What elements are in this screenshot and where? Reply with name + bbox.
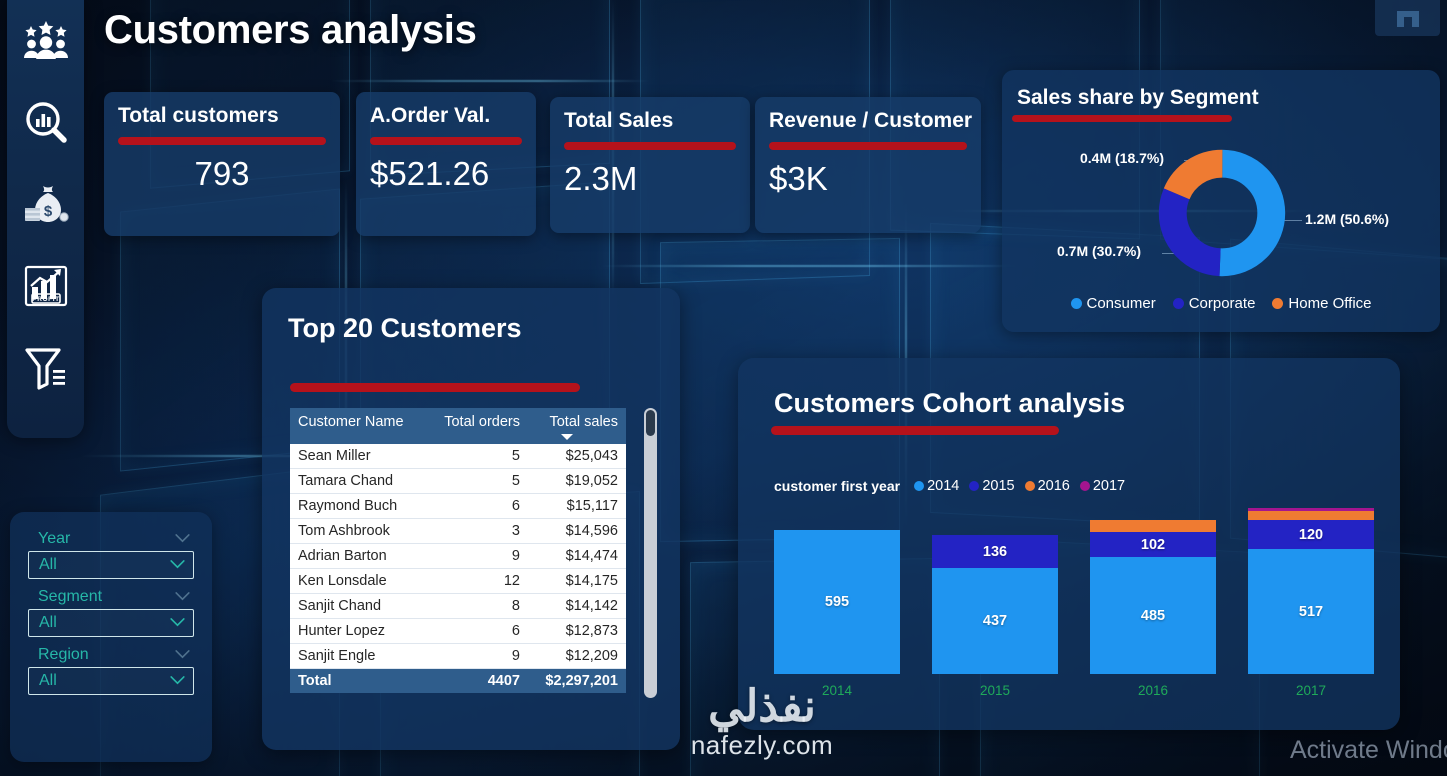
slicer-label: Region [38, 646, 89, 664]
donut-slice-home-office[interactable] [1173, 164, 1272, 263]
legend-label: 2016 [1038, 478, 1070, 494]
table-cell-orders: 9 [436, 544, 528, 569]
kpi-label: Total customers [118, 104, 326, 128]
legend-label: Corporate [1189, 295, 1256, 312]
customers-cohort-panel: Customers Cohort analysis customer first… [738, 358, 1400, 730]
sales-share-by-segment-panel: Sales share by Segment 0.4M (18.7%) 0.7M… [1002, 70, 1440, 332]
bar-segment-2017-2014[interactable]: 517 [1248, 549, 1374, 674]
bar-value-label: 485 [1141, 608, 1165, 624]
table-row[interactable]: Sean Miller5$25,043 [290, 444, 626, 469]
kpi-value: 2.3M [564, 162, 736, 197]
legend-label: 2014 [927, 478, 959, 494]
table-body: Sean Miller5$25,043Tamara Chand5$19,052R… [290, 444, 626, 693]
table-row[interactable]: Ken Lonsdale12$14,175 [290, 569, 626, 594]
legend-item-consumer[interactable]: Consumer [1071, 295, 1156, 312]
panel-underline [290, 383, 580, 392]
table-row[interactable]: Tamara Chand5$19,052 [290, 469, 626, 494]
column-header-customer-name[interactable]: Customer Name [290, 408, 436, 444]
customers-star-icon [23, 20, 69, 60]
axis-tick-label-2017: 2017 [1248, 683, 1374, 698]
table-scrollbar-thumb[interactable] [646, 410, 655, 436]
kpi-value: 793 [118, 157, 326, 192]
slicer-value: All [39, 614, 57, 632]
window-corner-icon [1375, 0, 1440, 36]
kpi-underline [769, 142, 967, 150]
table-cell-sales: $25,043 [528, 444, 626, 469]
kpi-label: Revenue / Customer [769, 109, 967, 133]
slicer-dropdown-segment[interactable]: All [28, 609, 194, 637]
legend-label: 2017 [1093, 478, 1125, 494]
sidebar-item-customers[interactable] [18, 14, 74, 66]
sidebar-item-analysis[interactable] [18, 96, 74, 148]
table-row[interactable]: Sanjit Engle9$12,209 [290, 644, 626, 669]
slicer-segment: SegmentAll [28, 588, 194, 637]
chevron-down-icon [170, 618, 185, 627]
cohort-stacked-bar-chart: 5952014136437201510248520161205172017 [774, 508, 1374, 698]
table-cell-name: Hunter Lopez [290, 619, 436, 644]
customers-table-wrapper: Customer Name Total orders Total sales S… [290, 408, 626, 720]
table-row[interactable]: Raymond Buch6$15,117 [290, 494, 626, 519]
bar-segment-2016-2014[interactable]: 485 [1090, 557, 1216, 674]
table-cell-name: Adrian Barton [290, 544, 436, 569]
slicer-year: YearAll [28, 530, 194, 579]
chevron-down-icon [175, 534, 190, 543]
legend-swatch-icon [1025, 481, 1035, 491]
legend-item-home-office[interactable]: Home Office [1272, 295, 1371, 312]
chevron-down-icon [170, 676, 185, 685]
legend-swatch-icon [969, 481, 979, 491]
slicer-label: Segment [38, 588, 102, 606]
table-cell-sales: $14,474 [528, 544, 626, 569]
slicer-value: All [39, 672, 57, 690]
table-total-label: Total [290, 669, 436, 694]
cohort-bar-2015[interactable]: 136437 [932, 535, 1058, 674]
cohort-bar-2016[interactable]: 102485 [1090, 520, 1216, 674]
page-title: Customers analysis [104, 8, 477, 53]
chart-search-icon [24, 100, 68, 144]
chevron-down-icon [175, 650, 190, 659]
table-total-sales: $2,297,201 [528, 669, 626, 694]
donut-chart[interactable] [1157, 148, 1287, 278]
sort-descending-icon [561, 434, 573, 440]
legend-item-2014[interactable]: 2014 [914, 478, 959, 494]
slicer-header-segment[interactable]: Segment [28, 588, 194, 609]
slicer-dropdown-region[interactable]: All [28, 667, 194, 695]
bar-segment-2015-2014[interactable]: 437 [932, 568, 1058, 674]
chevron-down-icon [170, 560, 185, 569]
bar-value-label: 517 [1299, 604, 1323, 620]
donut-callout-home-office: 0.4M (18.7%) [1080, 150, 1164, 166]
legend-item-2015[interactable]: 2015 [969, 478, 1014, 494]
axis-tick-label-2014: 2014 [774, 683, 900, 698]
bar-segment-2017-2015[interactable]: 120 [1248, 520, 1374, 549]
table-cell-orders: 5 [436, 469, 528, 494]
table-total-orders: 4407 [436, 669, 528, 694]
table-cell-sales: $14,175 [528, 569, 626, 594]
column-header-label: Total sales [549, 414, 618, 430]
panel-underline [771, 426, 1059, 435]
svg-text:PROFIT: PROFIT [32, 296, 59, 303]
table-cell-orders: 3 [436, 519, 528, 544]
table-cell-sales: $19,052 [528, 469, 626, 494]
funnel-filter-icon [23, 346, 69, 390]
table-cell-orders: 9 [436, 644, 528, 669]
legend-label: Home Office [1288, 295, 1371, 312]
kpi-underline [564, 142, 736, 150]
cohort-legend-title: customer first year [774, 478, 900, 494]
svg-text:$: $ [43, 203, 52, 220]
table-cell-name: Sanjit Engle [290, 644, 436, 669]
column-header-total-orders[interactable]: Total orders [436, 408, 528, 444]
legend-item-2016[interactable]: 2016 [1025, 478, 1070, 494]
donut-callout-consumer: 1.2M (50.6%) [1305, 211, 1389, 227]
bar-segment-2015-2015[interactable]: 136 [932, 535, 1058, 568]
bar-value-label: 102 [1141, 537, 1165, 553]
slicer-value: All [39, 556, 57, 574]
table-row[interactable]: Hunter Lopez6$12,873 [290, 619, 626, 644]
table-row[interactable]: Adrian Barton9$14,474 [290, 544, 626, 569]
cohort-bar-2014[interactable]: 595 [774, 530, 900, 674]
legend-swatch-icon [914, 481, 924, 491]
slicer-dropdown-year[interactable]: All [28, 551, 194, 579]
kpi-label: Total Sales [564, 109, 736, 133]
kpi-value: $521.26 [370, 157, 522, 192]
bar-value-label: 136 [983, 544, 1007, 560]
kpi-card-average-order-value[interactable]: A.Order Val. $521.26 [356, 92, 536, 236]
table-cell-name: Ken Lonsdale [290, 569, 436, 594]
sidebar-nav: $ PROFIT [7, 0, 84, 438]
kpi-card-total-sales[interactable]: Total Sales 2.3M [550, 97, 750, 233]
slicer-label: Year [38, 530, 70, 548]
bar-value-label: 120 [1299, 527, 1323, 543]
table-cell-orders: 6 [436, 494, 528, 519]
panel-title: Top 20 Customers [288, 313, 522, 344]
bar-segment-2016-2015[interactable]: 102 [1090, 532, 1216, 557]
kpi-value: $3K [769, 162, 967, 197]
money-bag-icon: $ [23, 184, 69, 224]
table-cell-name: Sanjit Chand [290, 594, 436, 619]
table-cell-orders: 6 [436, 619, 528, 644]
panel-title: Sales share by Segment [1017, 86, 1259, 110]
dashboard-canvas: $ PROFIT [0, 0, 1447, 776]
legend-swatch-icon [1071, 298, 1082, 309]
table-cell-sales: $12,873 [528, 619, 626, 644]
panel-title: Customers Cohort analysis [774, 388, 1125, 419]
kpi-label: A.Order Val. [370, 104, 522, 128]
bar-value-label: 437 [983, 613, 1007, 629]
slicer-region: RegionAll [28, 646, 194, 695]
kpi-underline [118, 137, 326, 145]
slicer-header-region[interactable]: Region [28, 646, 194, 667]
slicer-header-year[interactable]: Year [28, 530, 194, 551]
legend-item-2017[interactable]: 2017 [1080, 478, 1125, 494]
table-total-row: Total4407$2,297,201 [290, 669, 626, 694]
cohort-legend: customer first year 2014 2015 2016 2017 [774, 478, 1125, 494]
table-cell-sales: $12,209 [528, 644, 626, 669]
legend-item-corporate[interactable]: Corporate [1173, 295, 1256, 312]
table-header-row: Customer Name Total orders Total sales [290, 408, 626, 444]
kpi-card-revenue-per-customer[interactable]: Revenue / Customer $3K [755, 97, 981, 233]
kpi-card-total-customers[interactable]: Total customers 793 [104, 92, 340, 236]
table-cell-name: Tom Ashbrook [290, 519, 436, 544]
legend-label: 2015 [982, 478, 1014, 494]
donut-legend: Consumer Corporate Home Office [1002, 295, 1440, 312]
legend-label: Consumer [1087, 295, 1156, 312]
bar-segment-2017-2016[interactable] [1248, 511, 1374, 520]
cohort-bar-2017[interactable]: 120517 [1248, 508, 1374, 674]
table-cell-sales: $15,117 [528, 494, 626, 519]
column-header-total-sales[interactable]: Total sales [528, 408, 626, 444]
axis-tick-label-2016: 2016 [1090, 683, 1216, 698]
table-cell-orders: 5 [436, 444, 528, 469]
profit-growth-icon: PROFIT [24, 265, 68, 307]
sidebar-item-sales[interactable]: $ [18, 178, 74, 230]
axis-tick-label-2015: 2015 [932, 683, 1058, 698]
bar-value-label: 595 [825, 594, 849, 610]
filter-slicer-panel: YearAllSegmentAllRegionAll [10, 512, 212, 762]
table-cell-name: Sean Miller [290, 444, 436, 469]
table-cell-orders: 12 [436, 569, 528, 594]
chevron-down-icon [175, 592, 190, 601]
table-cell-sales: $14,596 [528, 519, 626, 544]
table-row[interactable]: Sanjit Chand8$14,142 [290, 594, 626, 619]
bar-segment-2016-2016[interactable] [1090, 520, 1216, 532]
customers-table: Customer Name Total orders Total sales S… [290, 408, 626, 693]
legend-swatch-icon [1173, 298, 1184, 309]
table-cell-orders: 8 [436, 594, 528, 619]
kpi-underline [370, 137, 522, 145]
sidebar-item-profit[interactable]: PROFIT [18, 260, 74, 312]
legend-swatch-icon [1080, 481, 1090, 491]
donut-callout-corporate: 0.7M (30.7%) [1057, 243, 1141, 259]
table-cell-sales: $14,142 [528, 594, 626, 619]
table-scrollbar[interactable] [644, 408, 657, 698]
sidebar-item-filter[interactable] [18, 342, 74, 394]
panel-underline [1012, 115, 1232, 122]
table-row[interactable]: Tom Ashbrook3$14,596 [290, 519, 626, 544]
bar-segment-2014-2014[interactable]: 595 [774, 530, 900, 674]
legend-swatch-icon [1272, 298, 1283, 309]
table-cell-name: Raymond Buch [290, 494, 436, 519]
activate-windows-notice: Activate Windo [1290, 736, 1447, 765]
top-20-customers-panel: Top 20 Customers Customer Name Total ord… [262, 288, 680, 750]
table-cell-name: Tamara Chand [290, 469, 436, 494]
